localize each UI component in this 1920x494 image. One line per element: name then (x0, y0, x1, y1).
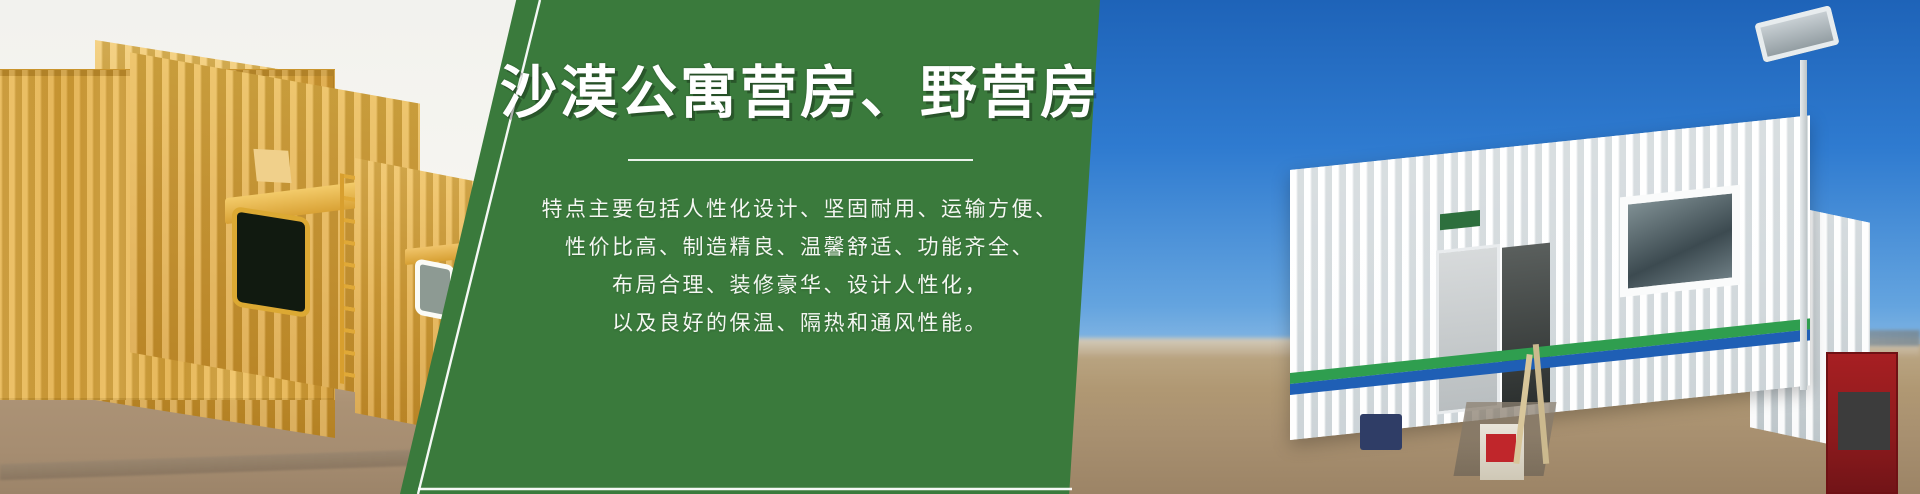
page-title: 沙漠公寓营房、野营房 (500, 62, 1100, 125)
flood-lamp-icon (1754, 5, 1839, 63)
container-vent-flap (253, 149, 291, 183)
description-line-3: 布局合理、装修豪华、设计人性化， (542, 267, 1059, 305)
description-line-1: 特点主要包括人性化设计、坚固耐用、运输方便、 (542, 191, 1059, 229)
container-window-large (1620, 185, 1740, 298)
title-divider (628, 159, 973, 161)
light-pole (1800, 60, 1807, 390)
right-photo-white-container-house (1060, 0, 1920, 494)
container-window-dark (232, 206, 310, 318)
container-door-closed (1436, 244, 1500, 415)
blue-bucket (1360, 414, 1402, 450)
banner-description: 特点主要包括人性化设计、坚固耐用、运输方便、 性价比高、制造精良、温馨舒适、功能… (542, 191, 1059, 343)
promo-banner: 沙漠公寓营房、野营房 特点主要包括人性化设计、坚固耐用、运输方便、 性价比高、制… (0, 0, 1920, 494)
description-line-4: 以及良好的保温、隔热和通风性能。 (542, 305, 1059, 343)
fire-equipment-cabinet (1826, 352, 1898, 494)
banner-content: 沙漠公寓营房、野营房 特点主要包括人性化设计、坚固耐用、运输方便、 性价比高、制… (520, 0, 1080, 494)
white-container-body (1290, 115, 1810, 440)
description-line-2: 性价比高、制造精良、温馨舒适、功能齐全、 (542, 229, 1059, 267)
